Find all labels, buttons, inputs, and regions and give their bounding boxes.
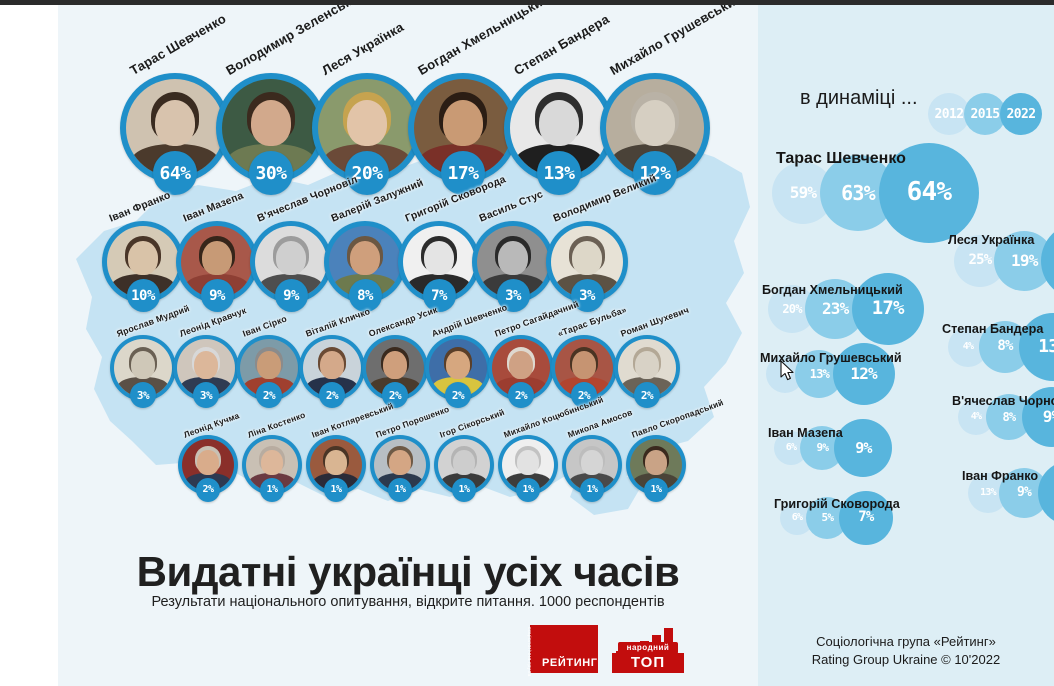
person-percent-badge: 1% [516,478,540,502]
person-bubble[interactable]: Степан Бандера13% [504,73,614,209]
narodnyi-top-logo[interactable]: народний ТОП [610,625,686,673]
person-percent-badge: 1% [388,478,412,502]
portrait-face [635,100,675,146]
rating-logo-vertical-text: соціологічна група [522,627,532,671]
portrait-face [194,351,218,378]
footer-line-2: Rating Group Ukraine © 10'2022 [758,651,1054,669]
dynamics-value: 12% [833,364,895,383]
dynamics-name: Тарас Шевченко [776,150,906,168]
person-bubble[interactable]: Ігор Сікорський1% [434,435,494,521]
person-percent-badge: 1% [260,478,284,502]
dynamics-value: 20% [1041,249,1054,273]
portrait-face [383,351,407,378]
portrait-face [498,241,528,275]
page-title: Видатні українці усіх часів [58,548,758,596]
person-bubble[interactable]: Іван Котляревський1% [306,435,366,521]
rating-logo-word: РЕЙТИНГ [542,657,596,669]
portrait-face [257,351,281,378]
portrait-face [347,100,387,146]
portrait-face [539,100,579,146]
person-percent-badge: 2% [634,382,660,408]
portrait-face [443,100,483,146]
portrait-face [635,351,659,378]
person-percent-badge: 2% [196,478,220,502]
portrait-face [276,241,306,275]
dynamics-name: Леся Українка [948,233,1034,247]
portrait-face [320,351,344,378]
portrait-face [197,450,218,474]
person-bubble[interactable]: Микола Амосов1% [562,435,622,521]
person-percent-badge: 13% [537,151,581,195]
person-bubble[interactable]: Ярослав Мудрий3% [110,335,176,427]
dynamics-value: 9% [1022,407,1054,426]
dynamics-heading: в динаміці ... [800,87,918,110]
logo-strip: соціологічна група РЕЙТИНГ народний ТОП [530,625,690,675]
dynamics-value: 64% [879,177,979,207]
dynamics-name: Іван Франко [962,469,1038,483]
portrait-face [446,351,470,378]
person-percent-badge: 3% [130,382,156,408]
dynamics-value: 9% [834,439,892,457]
page-subtitle: Результати національного опитування, від… [58,594,758,610]
year-legend-2022[interactable]: 2022 [1000,93,1042,135]
person-percent-badge: 30% [249,151,293,195]
ranking-panel: Тарас Шевченко64%Володимир Зеленський30%… [58,5,758,686]
footer-credit: Соціологічна група «Рейтинг» Rating Grou… [758,633,1054,669]
portrait-face [517,450,538,474]
person-percent-badge: 1% [580,478,604,502]
dynamics-name: В'ячеслав Чорновіл [952,394,1054,408]
person-percent-badge: 1% [324,478,348,502]
portrait-face [325,450,346,474]
mouse-cursor [780,360,796,382]
portrait-face [572,241,602,275]
person-bubble[interactable]: Богдан Хмельницький17% [408,73,518,209]
dynamics-name: Іван Мазепа [768,426,843,440]
person-percent-badge: 20% [345,151,389,195]
person-percent-badge: 3% [193,382,219,408]
left-white-margin [0,5,58,686]
portrait-face [645,450,666,474]
portrait-face [424,241,454,275]
person-percent-badge: 2% [256,382,282,408]
person-percent-badge: 2% [319,382,345,408]
person-percent-badge: 10% [127,279,160,312]
portrait-face [128,241,158,275]
person-bubble[interactable]: Павло Скоропадський1% [626,435,686,521]
dynamics-value: 10% [1038,482,1054,502]
portrait-face [261,450,282,474]
person-bubble[interactable]: Михайло Коцюбинський1% [498,435,558,521]
person-bubble[interactable]: Леонід Кучма2% [178,435,238,521]
person-percent-badge: 1% [644,478,668,502]
dynamics-name: Степан Бандера [942,322,1043,336]
dynamics-panel: в динаміці ... 201220152022 59%63%64%Тар… [758,5,1054,686]
infographic-root: Тарас Шевченко64%Володимир Зеленський30%… [0,0,1054,686]
dynamics-value: 17% [852,297,924,319]
dynamics-value: 7% [839,509,893,525]
portrait-face [389,450,410,474]
person-bubble[interactable]: Петро Порошенко1% [370,435,430,521]
rating-logo[interactable]: соціологічна група РЕЙТИНГ [530,625,598,673]
portrait-face [509,351,533,378]
person-percent-badge: 64% [153,151,197,195]
person-percent-badge: 9% [201,279,234,312]
person-bubble[interactable]: В'ячеслав Чорновіл9% [250,221,332,329]
person-percent-badge: 9% [275,279,308,312]
portrait-face [581,450,602,474]
portrait-face [572,351,596,378]
dynamics-name: Богдан Хмельницький [762,283,903,297]
portrait-face [155,100,195,146]
year-legend: 201220152022 [928,93,1048,137]
portrait-face [350,241,380,275]
narodnyi-top-logo-big-word: ТОП [612,653,684,673]
dynamics-name: Григорій Сковорода [774,497,900,511]
portrait-face [453,450,474,474]
person-percent-badge: 1% [452,478,476,502]
person-bubble[interactable]: Ліна Костенко1% [242,435,302,521]
person-percent-badge: 2% [508,382,534,408]
dynamics-value: 13% [1019,336,1054,357]
person-bubble[interactable]: Тарас Шевченко64% [120,73,230,209]
portrait-face [131,351,155,378]
portrait-face [251,100,291,146]
person-percent-badge: 2% [445,382,471,408]
person-bubble[interactable]: Володимир Зеленський30% [216,73,326,209]
portrait-face [202,241,232,275]
footer-line-1: Соціологічна група «Рейтинг» [758,633,1054,651]
